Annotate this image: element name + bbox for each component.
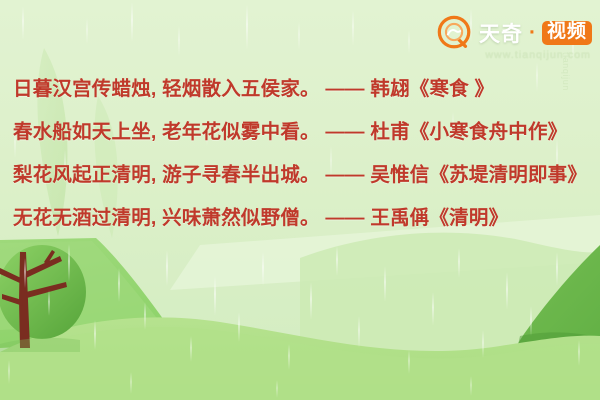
vertical-watermark: tianqijun xyxy=(561,52,571,91)
poster-canvas: 日暮汉宫传蜡烛, 轻烟散入五侯家。 —— 韩翃《寒食 》 春水船如天上坐, 老年… xyxy=(0,0,600,400)
logo-separator-dot: · xyxy=(529,21,536,45)
logo-video-badge: 视频 xyxy=(542,21,592,46)
poem-line-1: 日暮汉宫传蜡烛, 轻烟散入五侯家。 —— 韩翃《寒食 》 xyxy=(13,68,587,111)
q-cloud-logo-icon xyxy=(436,14,474,52)
poem-line-4: 无花无酒过清明, 兴味萧然似野僧。 —— 王禹偁《清明》 xyxy=(13,197,587,240)
logo-wordmark: 天奇 xyxy=(479,18,523,48)
brand-logo[interactable]: 天奇 · 视频 xyxy=(436,14,592,52)
poem-line-2: 春水船如天上坐, 老年花似雾中看。 —— 杜甫《小寒食舟中作》 xyxy=(13,111,587,154)
poem-line-3: 梨花风起正清明, 游子寻春半出城。 —— 吴惟信《苏堤清明即事》 xyxy=(13,154,587,197)
poem-block: 日暮汉宫传蜡烛, 轻烟散入五侯家。 —— 韩翃《寒食 》 春水船如天上坐, 老年… xyxy=(13,68,587,240)
url-watermark: www.tianqijun.com xyxy=(485,49,591,61)
